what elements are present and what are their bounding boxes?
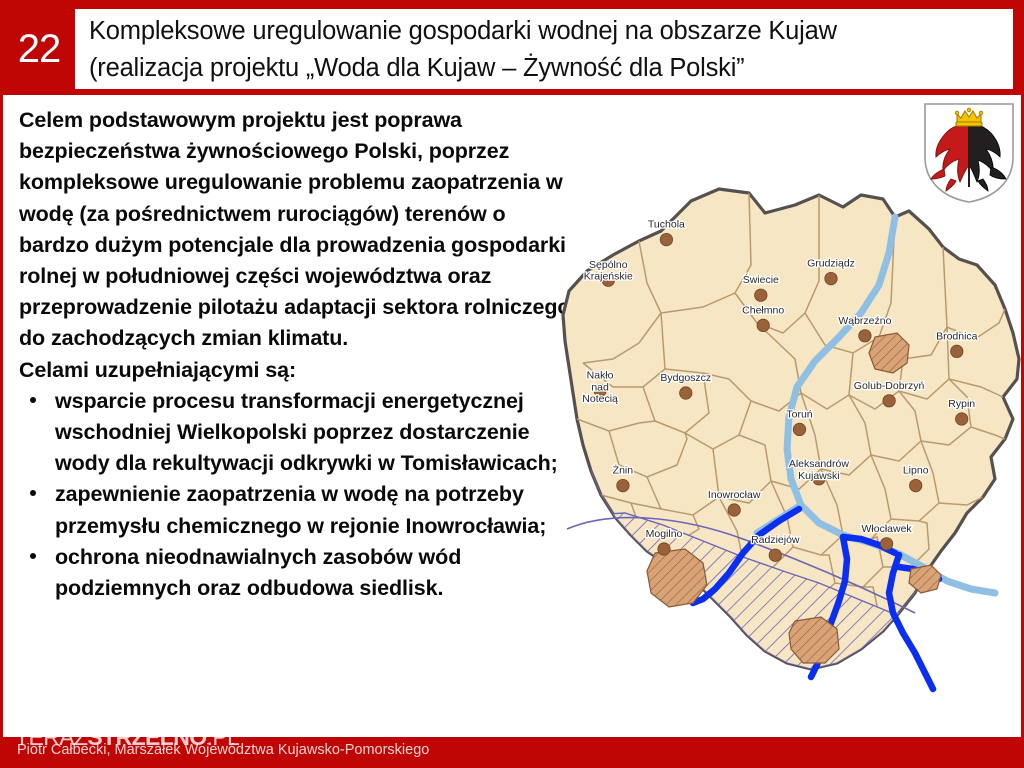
- list-item-label: zapewnienie zaopatrzenia w wodę na potrz…: [55, 482, 546, 537]
- bullet-dot-icon: [30, 397, 36, 403]
- city-dot: [859, 330, 871, 342]
- city-label: Aleksandrów: [789, 458, 850, 470]
- city-label: Lipno: [903, 465, 929, 477]
- body-paragraph-2: Celami uzupełniającymi są:: [19, 355, 579, 386]
- slide-footer-bar: Piotr Całbecki, Marszałek Województwa Ku…: [3, 737, 1021, 765]
- slide-header: 22 Kompleksowe uregulowanie gospodarki w…: [3, 3, 1021, 95]
- city-dot: [658, 543, 670, 555]
- city-label: Chełmno: [742, 304, 784, 316]
- city-label: Krajeńskie: [584, 271, 633, 283]
- city-label: Bydgoszcz: [660, 372, 711, 384]
- city-label: Toruń: [786, 408, 812, 420]
- city-dot: [755, 289, 767, 301]
- city-label: Nakło: [587, 369, 614, 381]
- city-dot: [825, 272, 837, 284]
- city-label: Tuchola: [648, 219, 685, 231]
- list-item: ochrona nieodnawialnych zasobów wód podz…: [19, 542, 579, 604]
- watermark-swoosh-icon: [17, 709, 145, 735]
- city-label: Wąbrzeźno: [838, 315, 891, 327]
- city-dot: [757, 319, 769, 331]
- city-label: Inowrocław: [708, 489, 761, 501]
- city-dot: [728, 504, 740, 516]
- city-label: Notecią: [582, 393, 618, 405]
- city-label: Żnin: [613, 464, 634, 477]
- body-paragraph-1: Celem podstawowym projektu jest poprawa …: [19, 105, 579, 355]
- city-label: Golub-Dobrzyń: [854, 380, 925, 392]
- city-dot: [880, 538, 892, 550]
- city-label: Mogilno: [646, 528, 683, 540]
- list-item-label: ochrona nieodnawialnych zasobów wód podz…: [55, 545, 461, 600]
- city-label: Rypin: [948, 398, 975, 410]
- city-label: Kujawski: [798, 470, 839, 482]
- voivodeship-map: TucholaSępólnoKrajeńskieŚwiecieGrudziądz…: [543, 173, 1024, 693]
- city-dot: [769, 549, 781, 561]
- city-dot: [793, 423, 805, 435]
- city-dot: [660, 233, 672, 245]
- bullet-dot-icon: [30, 553, 36, 559]
- city-label: Brodnica: [936, 330, 978, 342]
- city-label: Sępólno: [589, 259, 628, 271]
- slide-title-line-2: (realizacja projektu „Woda dla Kujaw – Ż…: [89, 50, 1013, 87]
- presentation-slide: 22 Kompleksowe uregulowanie gospodarki w…: [0, 0, 1024, 768]
- slide-title-line-1: Kompleksowe uregulowanie gospodarki wodn…: [89, 13, 1013, 50]
- list-item-label: wsparcie procesu transformacji energetyc…: [55, 389, 558, 475]
- slide-number-badge: 22: [3, 3, 75, 95]
- list-item: wsparcie procesu transformacji energetyc…: [19, 386, 579, 480]
- bullet-dot-icon: [30, 490, 36, 496]
- city-label: Grudziądz: [807, 258, 855, 270]
- city-label: Świecie: [743, 273, 779, 286]
- city-dot: [883, 395, 895, 407]
- city-label: Włocławek: [862, 523, 913, 535]
- slide-title-box: Kompleksowe uregulowanie gospodarki wodn…: [75, 9, 1013, 89]
- city-label: Radziejów: [751, 534, 800, 546]
- city-dot: [951, 345, 963, 357]
- footer-credit: Piotr Całbecki, Marszałek Województwa Ku…: [17, 742, 429, 758]
- objectives-list: wsparcie procesu transformacji energetyc…: [19, 386, 579, 604]
- list-item: zapewnienie zaopatrzenia w wodę na potrz…: [19, 479, 579, 541]
- city-dot: [680, 387, 692, 399]
- city-dot: [956, 413, 968, 425]
- city-label: nad: [591, 381, 609, 393]
- city-dot: [910, 479, 922, 491]
- city-dot: [617, 479, 629, 491]
- slide-body-text: Celem podstawowym projektu jest poprawa …: [19, 105, 579, 604]
